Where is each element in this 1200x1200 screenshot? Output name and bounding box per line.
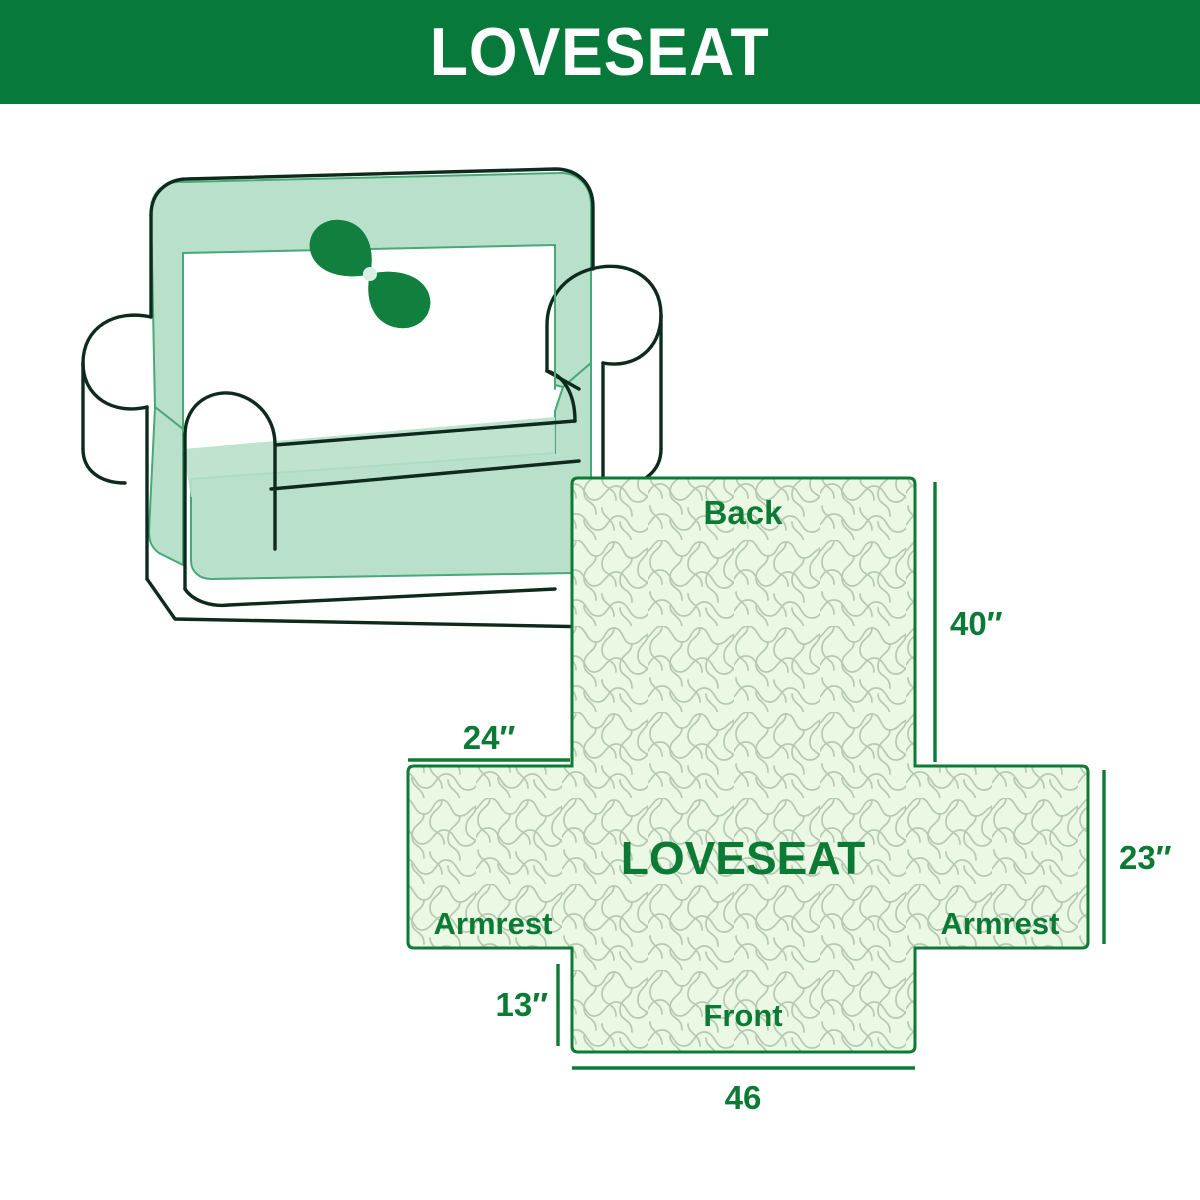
panel-label-front: Front xyxy=(703,998,782,1033)
header-banner: LOVESEAT xyxy=(0,0,1200,104)
dimension-back-height: 40″ xyxy=(935,482,1003,762)
panel-label-back: Back xyxy=(704,494,784,531)
cover-panel-outline xyxy=(408,478,1088,1052)
dimension-back-width: 24″ xyxy=(408,719,570,760)
dimension-label-back-width: 24″ xyxy=(463,719,516,756)
page-title: LOVESEAT xyxy=(430,18,770,86)
dimension-front-height: 13″ xyxy=(495,964,558,1046)
cover-center-label: LOVESEAT xyxy=(621,832,866,884)
dimension-label-back-height: 40″ xyxy=(950,605,1003,642)
dimension-label-armrest-height: 23″ xyxy=(1119,839,1172,876)
dimension-armrest-height: 23″ xyxy=(1104,770,1172,944)
cover-shape-diagram: Back LOVESEAT Armrest Armrest Front 40″ … xyxy=(390,454,1190,1194)
content-area: Back LOVESEAT Armrest Armrest Front 40″ … xyxy=(0,104,1200,1200)
dimension-label-front-width: 46 xyxy=(725,1079,762,1116)
dimension-front-width: 46 xyxy=(572,1068,915,1116)
panel-label-armrest-left: Armrest xyxy=(434,906,553,941)
panel-label-armrest-right: Armrest xyxy=(941,906,1060,941)
dimension-label-front-height: 13″ xyxy=(495,986,548,1023)
